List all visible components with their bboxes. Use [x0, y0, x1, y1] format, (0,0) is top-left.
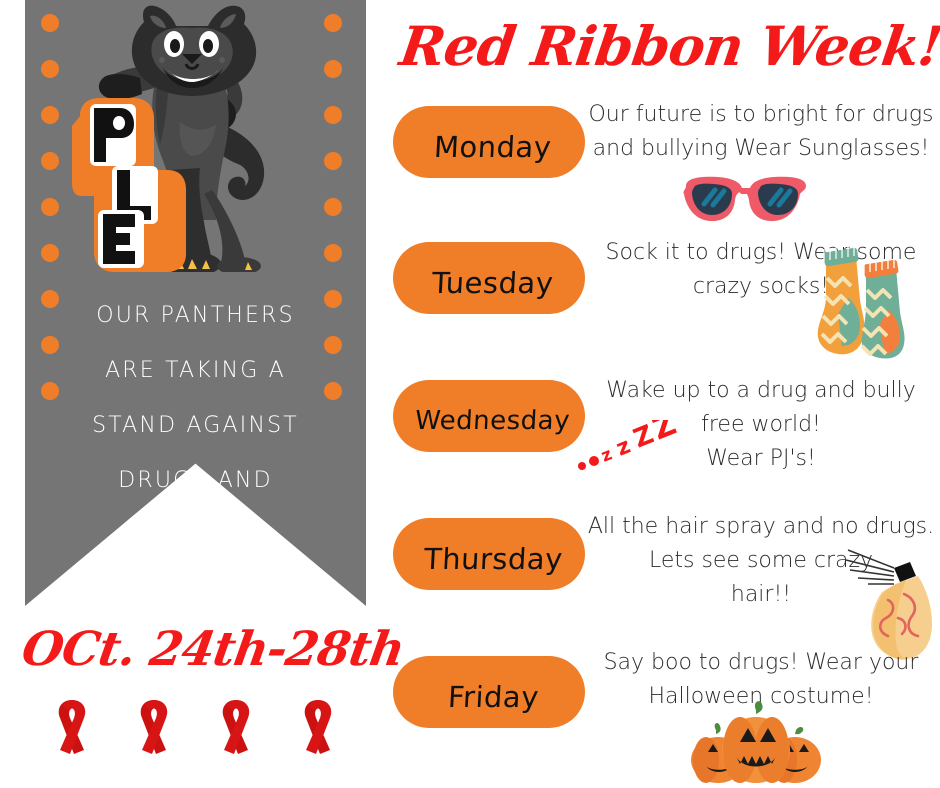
- day-description-line: Wake up to a drug and bully: [582, 374, 940, 408]
- left-column: OUR PANTHERS ARE TAKING A STAND AGAINST …: [0, 0, 390, 788]
- page-title: Red Ribbon Week!: [395, 14, 940, 86]
- slogan-line: OUR PANTHERS: [45, 288, 346, 343]
- red-ribbon-icon: [296, 696, 340, 758]
- day-description-line: All the hair spray and no drugs.: [582, 510, 940, 544]
- slogan-line: DRUGS AND: [45, 453, 346, 508]
- day-description-line: and bullying Wear Sunglasses!: [582, 132, 940, 166]
- slogan-line: STAND AGAINST: [45, 398, 346, 453]
- day-pill-monday[interactable]: Monday: [393, 106, 585, 178]
- banner-dot: [41, 198, 59, 216]
- day-pill-label: Tuesday: [431, 266, 554, 300]
- banner-dot: [324, 60, 342, 78]
- banner-dot: [41, 152, 59, 170]
- svg-text:z: z: [613, 434, 634, 462]
- slogan-line: BULLYING!: [45, 508, 346, 563]
- right-column: Red Ribbon Week! Monday Our future is to…: [390, 0, 940, 788]
- banner-dot: [41, 244, 59, 262]
- banner-dot: [41, 60, 59, 78]
- day-pill-thursday[interactable]: Thursday: [393, 518, 585, 590]
- slogan-line: ARE TAKING A: [45, 343, 346, 398]
- banner-dot: [324, 106, 342, 124]
- banner-dot: [41, 106, 59, 124]
- red-ribbon-row: [50, 696, 340, 758]
- day-row-tuesday: Tuesday Sock it to drugs! Wear some craz…: [390, 228, 940, 368]
- red-ribbon-icon: [214, 696, 258, 758]
- date-range-text: OCt. 24th-28th: [17, 622, 387, 684]
- day-description-line: Say boo to drugs! Wear your: [582, 646, 940, 680]
- day-description-monday: Our future is to bright for drugs and bu…: [582, 98, 940, 166]
- banner-dot: [324, 198, 342, 216]
- day-pill-tuesday[interactable]: Tuesday: [393, 242, 585, 314]
- day-description-line: Our future is to bright for drugs: [582, 98, 940, 132]
- socks-icon: [808, 238, 920, 360]
- day-pill-label: Friday: [447, 680, 540, 714]
- day-row-monday: Monday Our future is to bright for drugs…: [390, 96, 940, 228]
- day-row-wednesday: Wednesday Wake up to a drug and bully fr…: [390, 368, 940, 506]
- day-pill-label: Wednesday: [415, 406, 572, 436]
- banner-dot: [41, 14, 59, 32]
- day-row-thursday: Thursday All the hair spray and no drugs…: [390, 506, 940, 636]
- red-ribbon-icon: [132, 696, 176, 758]
- red-ribbon-icon: [50, 696, 94, 758]
- banner-dot: [324, 14, 342, 32]
- banner-slogan: OUR PANTHERS ARE TAKING A STAND AGAINST …: [45, 288, 346, 563]
- day-pill-friday[interactable]: Friday: [393, 656, 585, 728]
- day-row-friday: Friday Say boo to drugs! Wear your Hallo…: [390, 636, 940, 788]
- day-pill-label: Thursday: [423, 542, 564, 576]
- banner-dot: [324, 152, 342, 170]
- pumpkins-icon: [690, 698, 822, 784]
- svg-text:z: z: [598, 444, 615, 466]
- zzz-icon: z z Z Z: [576, 420, 686, 474]
- day-pill-label: Monday: [433, 130, 552, 164]
- ple-logo: [72, 92, 188, 278]
- day-pill-wednesday[interactable]: Wednesday: [393, 380, 585, 452]
- banner-dot: [324, 244, 342, 262]
- sunglasses-icon: [682, 174, 810, 226]
